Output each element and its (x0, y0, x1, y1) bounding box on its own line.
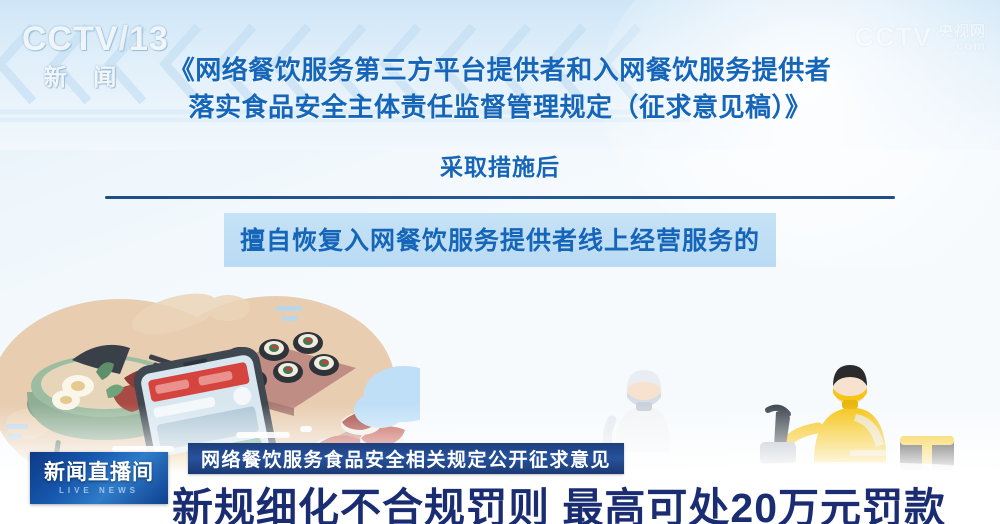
lower-third-topic-text: 网络餐饮服务食品安全相关规定公开征求意见 (201, 445, 611, 472)
document-title-line-2: 落实食品安全主体责任监督管理规定（征求意见稿）》 (0, 89, 1000, 126)
document-divider-rule (105, 196, 895, 199)
live-news-channel-logo: 新闻直播间 LIVE NEWS (30, 452, 168, 504)
lower-third-headline: 新规细化不合规罚则 最高可处20万元罚款 (172, 474, 946, 524)
broadcast-screenshot: CCTV/13 新 闻 CCTV 央视网 .com 《网络餐饮服务第三方平台提供… (0, 0, 1000, 524)
regulation-document-graphic: 《网络餐饮服务第三方平台提供者和入网餐饮服务提供者 落实食品安全主体责任监督管理… (0, 52, 1000, 267)
watermark-site-cn: 央视网 (938, 24, 986, 39)
watermark-site-domain: .com (938, 39, 986, 52)
document-section-label: 采取措施后 (0, 148, 1000, 182)
lower-third-headline-text: 新规细化不合规罚则 最高可处20万元罚款 (172, 485, 946, 524)
document-title-line-1: 《网络餐饮服务第三方平台提供者和入网餐饮服务提供者 (0, 52, 1000, 89)
lower-third-topic-banner: 网络餐饮服务食品安全相关规定公开征求意见 (188, 443, 624, 474)
watermark-brand: CCTV (854, 22, 932, 53)
channel-logo-cn: 新闻直播间 (44, 462, 154, 483)
channel-logo-en: LIVE NEWS (59, 487, 139, 495)
cctv-com-watermark: CCTV 央视网 .com (854, 22, 986, 53)
document-highlight-clause: 擅自恢复入网餐饮服务提供者线上经营服务的 (224, 213, 776, 267)
